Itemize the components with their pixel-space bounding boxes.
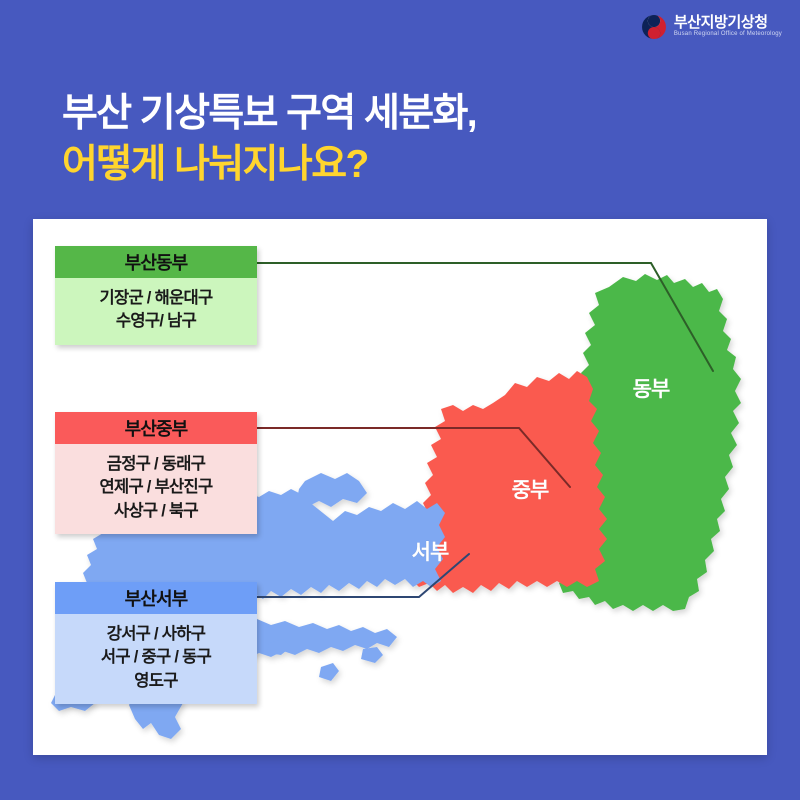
legend-card-west-row-3: 영도구 [59,670,253,693]
page-title: 부산 기상특보 구역 세분화, 어떻게 나눠지나요? [62,88,476,191]
title-line-1: 부산 기상특보 구역 세분화, [62,88,476,139]
legend-card-central-header: 부산중부 [55,412,257,444]
agency-name-ko: 부산지방기상청 [674,15,782,31]
legend-card-central[interactable]: 부산중부 금정구 / 동래구 연제구 / 부산진구 사상구 / 북구 [55,412,257,534]
legend-card-west-row-1: 강서구 / 사하구 [59,623,253,646]
legend-card-east-header: 부산동부 [55,246,257,278]
legend-card-central-body: 금정구 / 동래구 연제구 / 부산진구 사상구 / 북구 [55,444,257,534]
legend-card-west-body: 강서구 / 사하구 서구 / 중구 / 동구 영도구 [55,614,257,704]
infographic-page: 부산지방기상청 Busan Regional Office of Meteoro… [0,0,800,800]
legend-card-west-row-2: 서구 / 중구 / 동구 [59,646,253,669]
legend-card-east-body: 기장군 / 해운대구 수영구/ 남구 [55,278,257,345]
legend-card-east-row-2: 수영구/ 남구 [59,310,253,333]
legend-card-central-row-3: 사상구 / 북구 [59,500,253,523]
legend-card-east-row-1: 기장군 / 해운대구 [59,287,253,310]
legend-card-west[interactable]: 부산서부 강서구 / 사하구 서구 / 중구 / 동구 영도구 [55,582,257,704]
legend-card-central-row-1: 금정구 / 동래구 [59,453,253,476]
legend-card-west-header: 부산서부 [55,582,257,614]
title-line-2: 어떻게 나눠지나요? [62,139,476,190]
legend-card-central-row-2: 연제구 / 부산진구 [59,476,253,499]
agency-name-en: Busan Regional Office of Meteorology [674,31,782,39]
legend-card-east[interactable]: 부산동부 기장군 / 해운대구 수영구/ 남구 [55,246,257,345]
agency-logo: 부산지방기상청 Busan Regional Office of Meteoro… [641,14,782,40]
taegeuk-icon [641,14,667,40]
